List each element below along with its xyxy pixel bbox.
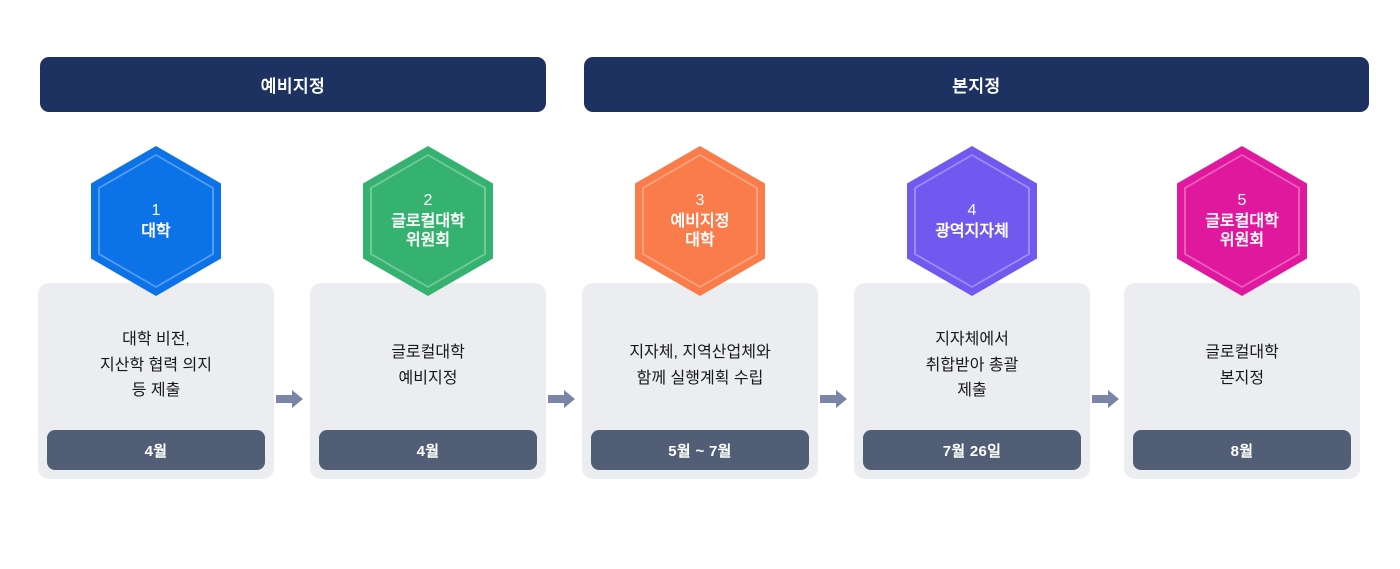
hexagon-shape: 3 예비지정 대학: [635, 146, 765, 296]
step-4: 4 광역지자체 지자체에서 취합받아 총괄 제출 7월 26일: [854, 146, 1090, 479]
step-card: 글로컬대학 본지정 8월: [1124, 283, 1360, 479]
step-period: 7월 26일: [863, 430, 1081, 470]
arrow-right-icon: [1092, 389, 1120, 409]
step-card: 대학 비전, 지산학 협력 의지 등 제출 4월: [38, 283, 274, 479]
step-5: 5 글로컬대학 위원회 글로컬대학 본지정 8월: [1124, 146, 1360, 479]
hexagon-shape: 1 대학: [91, 146, 221, 296]
step-hexagon-badge: 1 대학: [91, 146, 221, 296]
phase-header-label: 본지정: [952, 72, 1000, 97]
phase-header-label: 예비지정: [261, 72, 326, 97]
step-description: 글로컬대학 예비지정: [391, 340, 465, 392]
step-card: 글로컬대학 예비지정 4월: [310, 283, 546, 479]
process-flow-diagram: 예비지정 본지정 1 대학 대학 비전, 지산학 협력 의지 등 제출 4월: [0, 0, 1400, 569]
step-3: 3 예비지정 대학 지자체, 지역산업체와 함께 실행계획 수립 5월 ~ 7월: [582, 146, 818, 479]
arrow-right-icon: [276, 389, 304, 409]
hexagon-inner-fill: [916, 156, 1028, 286]
step-card-body: 지자체, 지역산업체와 함께 실행계획 수립: [582, 283, 818, 430]
phase-header-preliminary: 예비지정: [40, 57, 546, 112]
step-hexagon-badge: 2 글로컬대학 위원회: [363, 146, 493, 296]
step-period: 5월 ~ 7월: [591, 430, 809, 470]
step-hexagon-badge: 5 글로컬대학 위원회: [1177, 146, 1307, 296]
step-period: 8월: [1133, 430, 1351, 470]
hexagon-shape: 4 광역지자체: [907, 146, 1037, 296]
step-hexagon-badge: 3 예비지정 대학: [635, 146, 765, 296]
step-period: 4월: [47, 430, 265, 470]
hexagon-inner-fill: [372, 156, 484, 286]
hexagon-shape: 2 글로컬대학 위원회: [363, 146, 493, 296]
arrow-right-icon: [820, 389, 848, 409]
step-card-body: 대학 비전, 지산학 협력 의지 등 제출: [38, 283, 274, 430]
step-card-body: 글로컬대학 본지정: [1124, 283, 1360, 430]
step-description: 지자체, 지역산업체와 함께 실행계획 수립: [629, 340, 770, 392]
step-card: 지자체에서 취합받아 총괄 제출 7월 26일: [854, 283, 1090, 479]
hexagon-inner-fill: [644, 156, 756, 286]
hexagon-inner-fill: [1186, 156, 1298, 286]
phase-header-main: 본지정: [584, 57, 1369, 112]
step-hexagon-badge: 4 광역지자체: [907, 146, 1037, 296]
hexagon-shape: 5 글로컬대학 위원회: [1177, 146, 1307, 296]
arrow-right-icon: [548, 389, 576, 409]
step-card: 지자체, 지역산업체와 함께 실행계획 수립 5월 ~ 7월: [582, 283, 818, 479]
step-description: 글로컬대학 본지정: [1205, 340, 1279, 392]
step-card-body: 글로컬대학 예비지정: [310, 283, 546, 430]
step-description: 대학 비전, 지산학 협력 의지 등 제출: [100, 327, 212, 405]
step-card-body: 지자체에서 취합받아 총괄 제출: [854, 283, 1090, 430]
hexagon-inner-fill: [100, 156, 212, 286]
step-description: 지자체에서 취합받아 총괄 제출: [926, 327, 1019, 405]
step-period: 4월: [319, 430, 537, 470]
step-1: 1 대학 대학 비전, 지산학 협력 의지 등 제출 4월: [38, 146, 274, 479]
step-2: 2 글로컬대학 위원회 글로컬대학 예비지정 4월: [310, 146, 546, 479]
